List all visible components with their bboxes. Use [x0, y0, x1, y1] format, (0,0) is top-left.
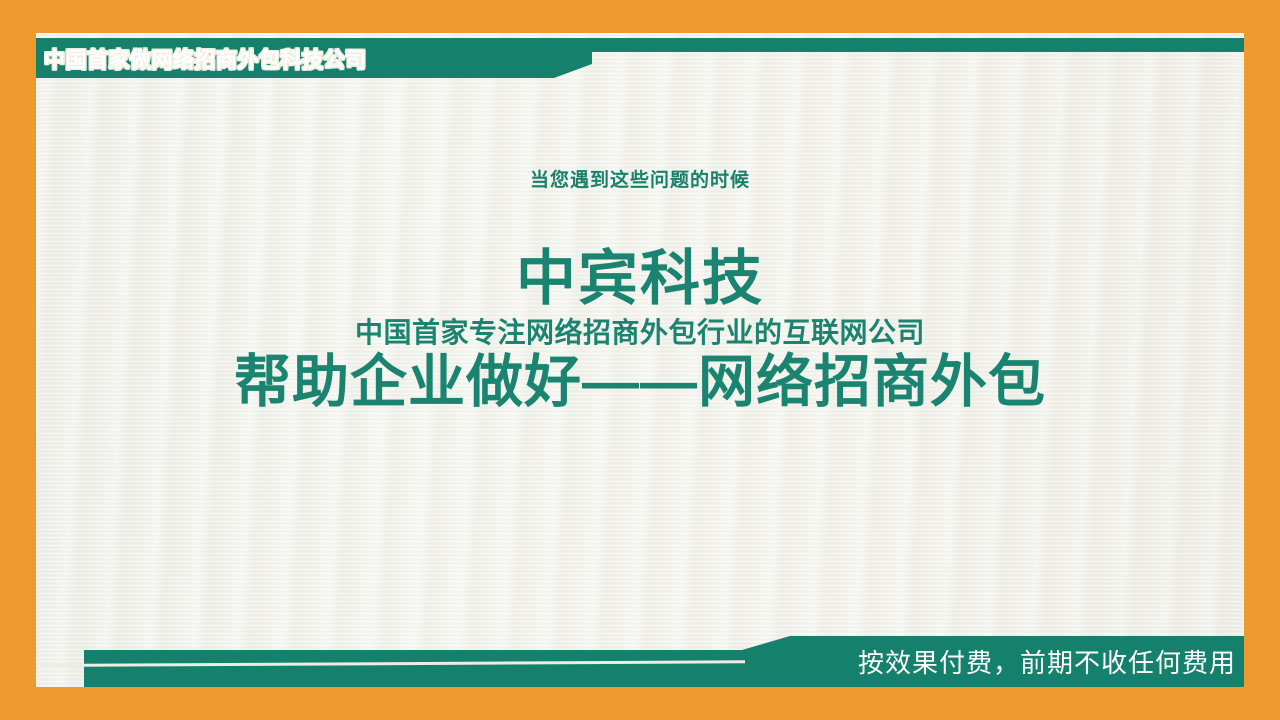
slide-body: 当您遇到这些问题的时候 中宾科技 中国首家专注网络招商外包行业的互联网公司 帮助… [36, 78, 1244, 413]
header-title: 中国首家做网络招商外包科技公司 [44, 39, 367, 78]
eyebrow-text: 当您遇到这些问题的时候 [36, 165, 1244, 192]
brand-name: 中宾科技 [36, 248, 1244, 309]
headline-text: 帮助企业做好——网络招商外包 [36, 353, 1244, 413]
slide-canvas: 中国首家做网络招商外包科技公司 当您遇到这些问题的时候 中宾科技 中国首家专注网… [0, 0, 1280, 720]
tagline-text: 中国首家专注网络招商外包行业的互联网公司 [36, 311, 1244, 351]
footer-text: 按效果付费，前期不收任何费用 [858, 636, 1236, 687]
